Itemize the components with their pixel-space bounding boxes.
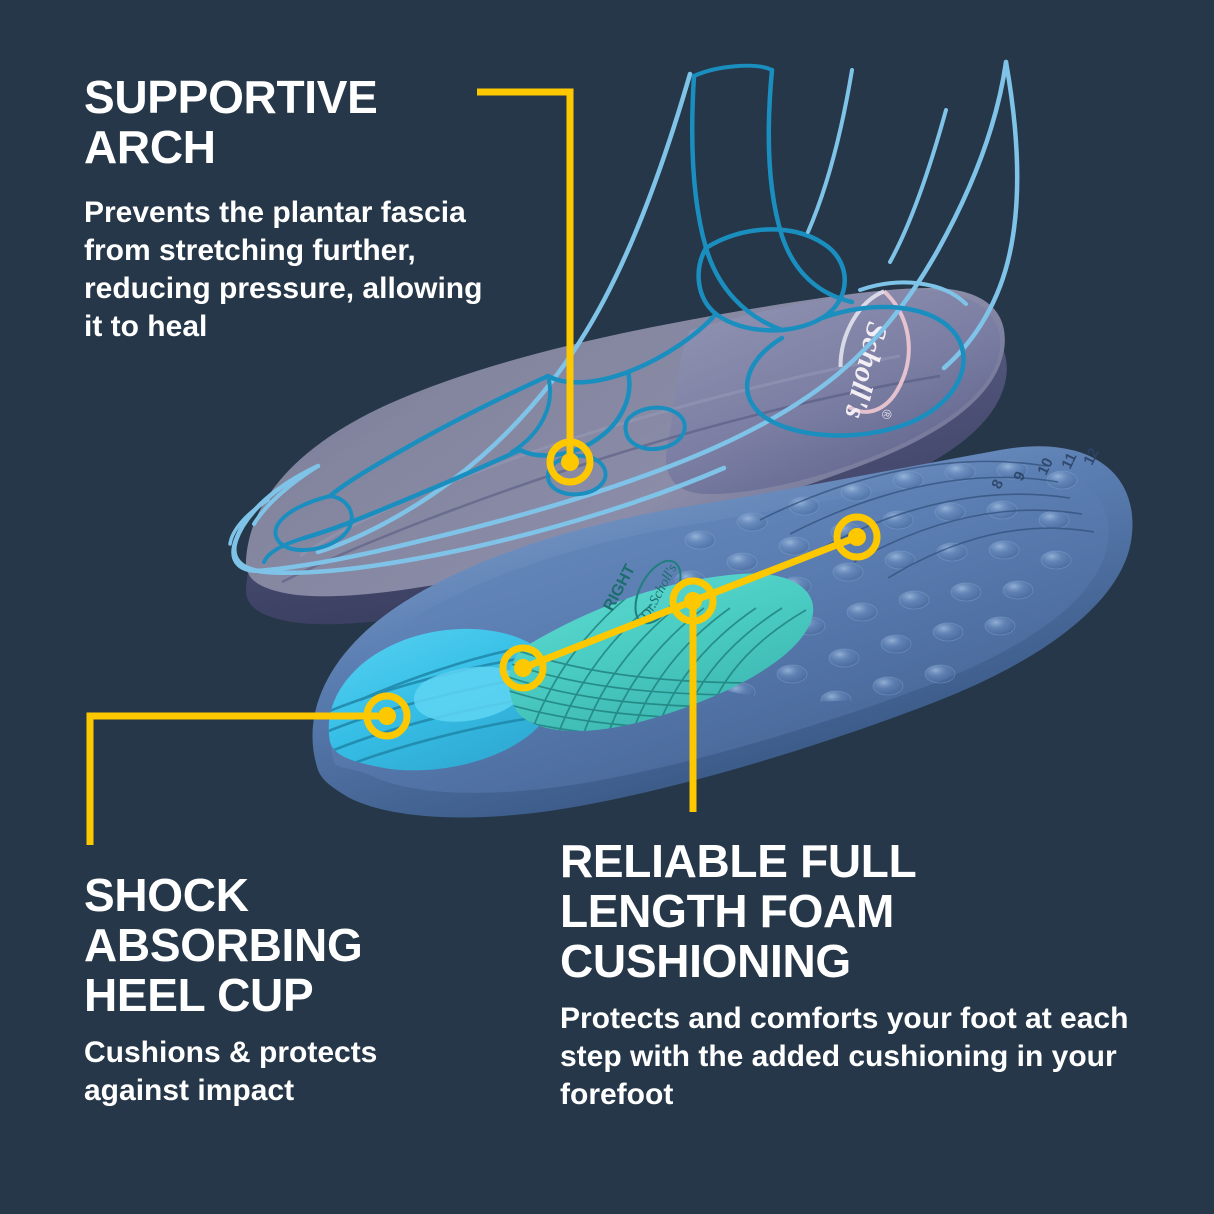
heading-line: SUPPORTIVE [84, 71, 378, 123]
callout-heading-foam: RELIABLE FULL LENGTH FOAM CUSHIONING [560, 836, 1160, 986]
heading-line: RELIABLE FULL [560, 835, 916, 887]
callout-supportive-arch: SUPPORTIVE ARCH Prevents the plantar fas… [84, 72, 504, 346]
heading-line: SHOCK [84, 869, 249, 921]
callout-heading-heel-cup: SHOCK ABSORBING HEEL CUP [84, 870, 504, 1020]
heading-line: ABSORBING [84, 919, 362, 971]
infographic-canvas: Scholl's ® [0, 0, 1214, 1214]
callout-body-supportive-arch: Prevents the plantar fascia from stretch… [84, 194, 484, 346]
callout-heading-supportive-arch: SUPPORTIVE ARCH [84, 72, 504, 172]
heading-line: ARCH [84, 121, 216, 173]
callout-body-heel-cup: Cushions & protects against impact [84, 1034, 484, 1110]
heading-line: HEEL CUP [84, 969, 313, 1021]
heading-line: CUSHIONING [560, 935, 851, 987]
callout-reliable-full-length-foam-cushioning: RELIABLE FULL LENGTH FOAM CUSHIONING Pro… [560, 836, 1160, 1114]
callout-body-foam: Protects and comforts your foot at each … [560, 1000, 1150, 1114]
callout-shock-absorbing-heel-cup: SHOCK ABSORBING HEEL CUP Cushions & prot… [84, 870, 504, 1110]
heading-line: LENGTH FOAM [560, 885, 894, 937]
